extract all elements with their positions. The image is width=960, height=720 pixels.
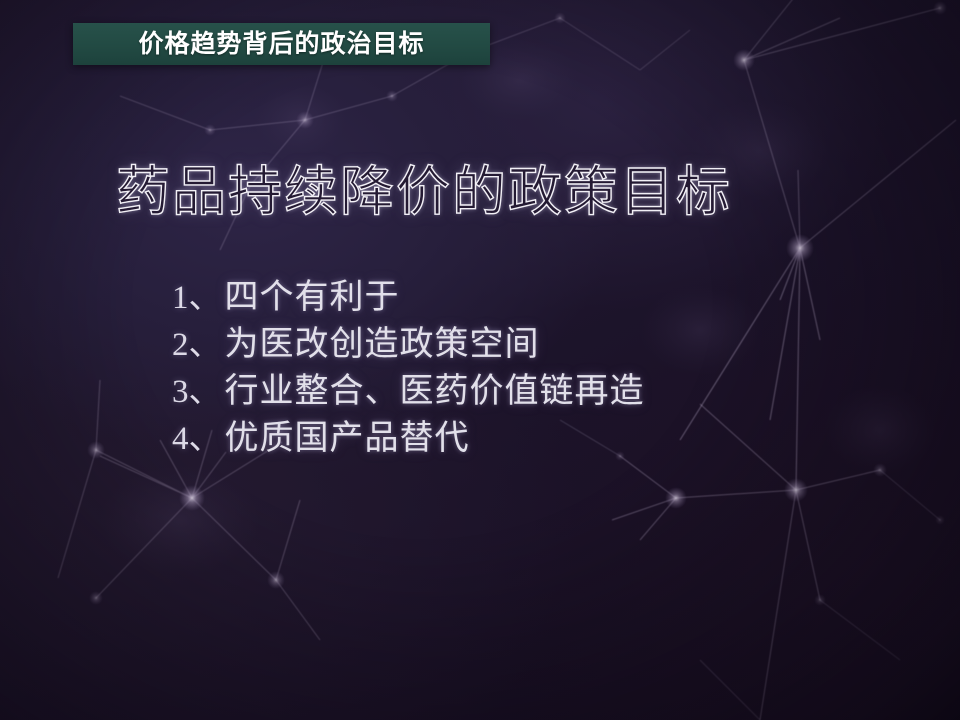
list-item-separator: 、 <box>189 374 222 407</box>
list-item: 4 、 优质国产品替代 <box>172 421 645 468</box>
header-banner-title: 价格趋势背后的政治目标 <box>138 32 424 57</box>
list-item-number: 1 <box>172 282 189 315</box>
list-item-number: 3 <box>172 376 189 409</box>
page-title: 药品持续降价的政策目标 <box>116 162 732 222</box>
list-item-label: 优质国产品替代 <box>225 421 470 455</box>
list-item-separator: 、 <box>189 421 222 454</box>
list-item-number: 4 <box>172 423 189 456</box>
list-item-separator: 、 <box>189 280 222 313</box>
list-item-number: 2 <box>172 329 189 362</box>
list-item-label: 四个有利于 <box>225 280 400 314</box>
list-item: 3 、 行业整合、医药价值链再造 <box>172 374 645 421</box>
list-item-label: 行业整合、医药价值链再造 <box>225 374 645 408</box>
list-item: 1 、 四个有利于 <box>172 280 645 327</box>
bullet-list: 1 、 四个有利于 2 、 为医改创造政策空间 3 、 行业整合、医药价值链再造… <box>172 280 645 468</box>
presentation-slide: 价格趋势背后的政治目标 药品持续降价的政策目标 1 、 四个有利于 2 、 为医… <box>0 0 960 720</box>
list-item-separator: 、 <box>189 327 222 360</box>
header-banner: 价格趋势背后的政治目标 <box>73 23 490 65</box>
list-item-label: 为医改创造政策空间 <box>225 327 540 361</box>
list-item: 2 、 为医改创造政策空间 <box>172 327 645 374</box>
